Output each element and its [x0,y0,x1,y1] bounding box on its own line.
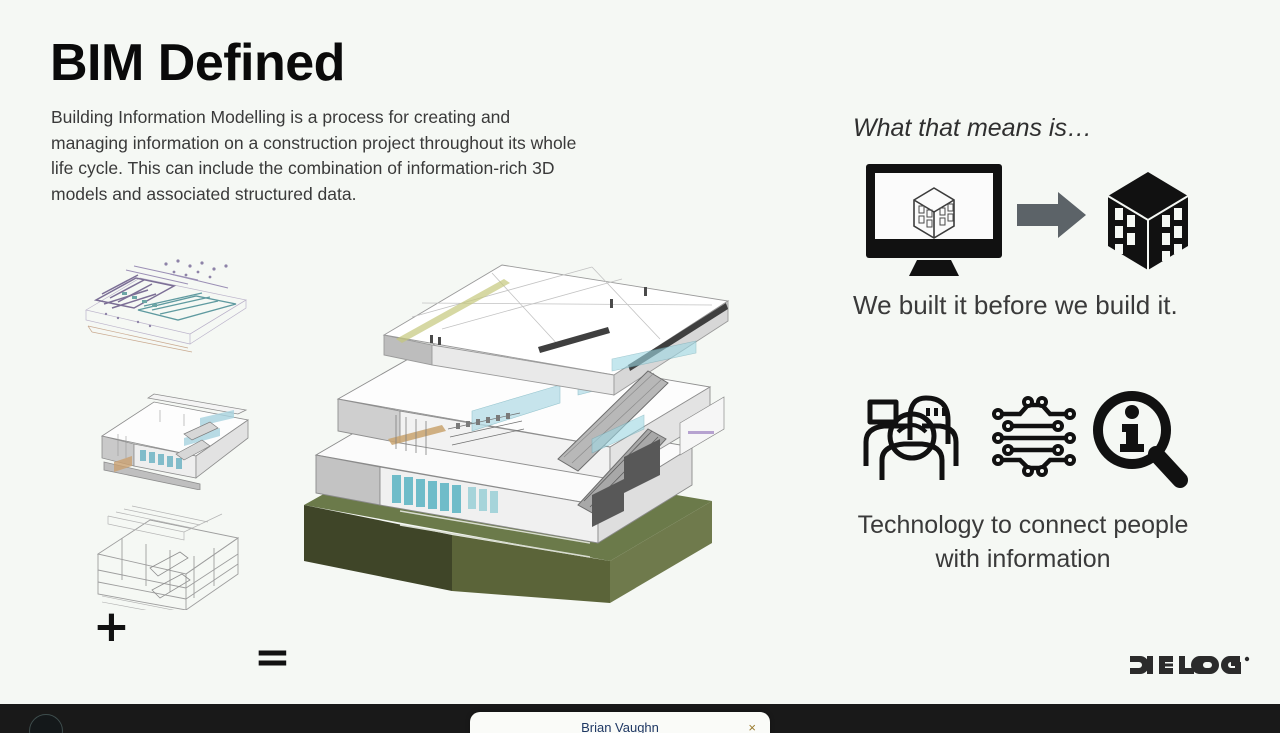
right-arrow-icon [1017,192,1086,238]
icon-row-build-before [862,160,1192,278]
participant-name: Brian Vaughn [470,720,770,733]
right-column-heading: What that means is… [853,114,1092,143]
right-column-caption-2: Technology to connect people with inform… [853,508,1193,576]
body-paragraph: Building Information Modelling is a proc… [51,105,591,207]
participant-name-card[interactable]: Brian Vaughn × [470,712,770,733]
equals-operator: = [254,636,291,680]
circuit-network-icon [1002,405,1066,468]
solid-building-icon [1108,172,1188,270]
presentation-slide: BIM Defined Building Information Modelli… [0,0,1280,704]
user-avatar[interactable] [29,714,63,733]
model-stack-diagram: + + = [60,240,310,610]
right-column-caption-1: We built it before we build it. [853,290,1178,321]
magnifier-information-icon [1098,396,1180,480]
page-title: BIM Defined [50,36,345,91]
icon-row-technology-connect [860,388,1190,488]
close-icon[interactable]: × [748,720,756,733]
combined-bim-model-graphic [292,243,752,603]
plus-operator-1: + [93,605,130,649]
architectural-model-graphic [88,378,256,490]
slide-viewer: BIM Defined Building Information Modelli… [0,0,1280,733]
mep-model-graphic [78,248,253,353]
dialog-logo [1130,652,1252,678]
monitor-with-wireframe-building-icon [866,164,1002,276]
structural-model-graphic [88,498,246,610]
